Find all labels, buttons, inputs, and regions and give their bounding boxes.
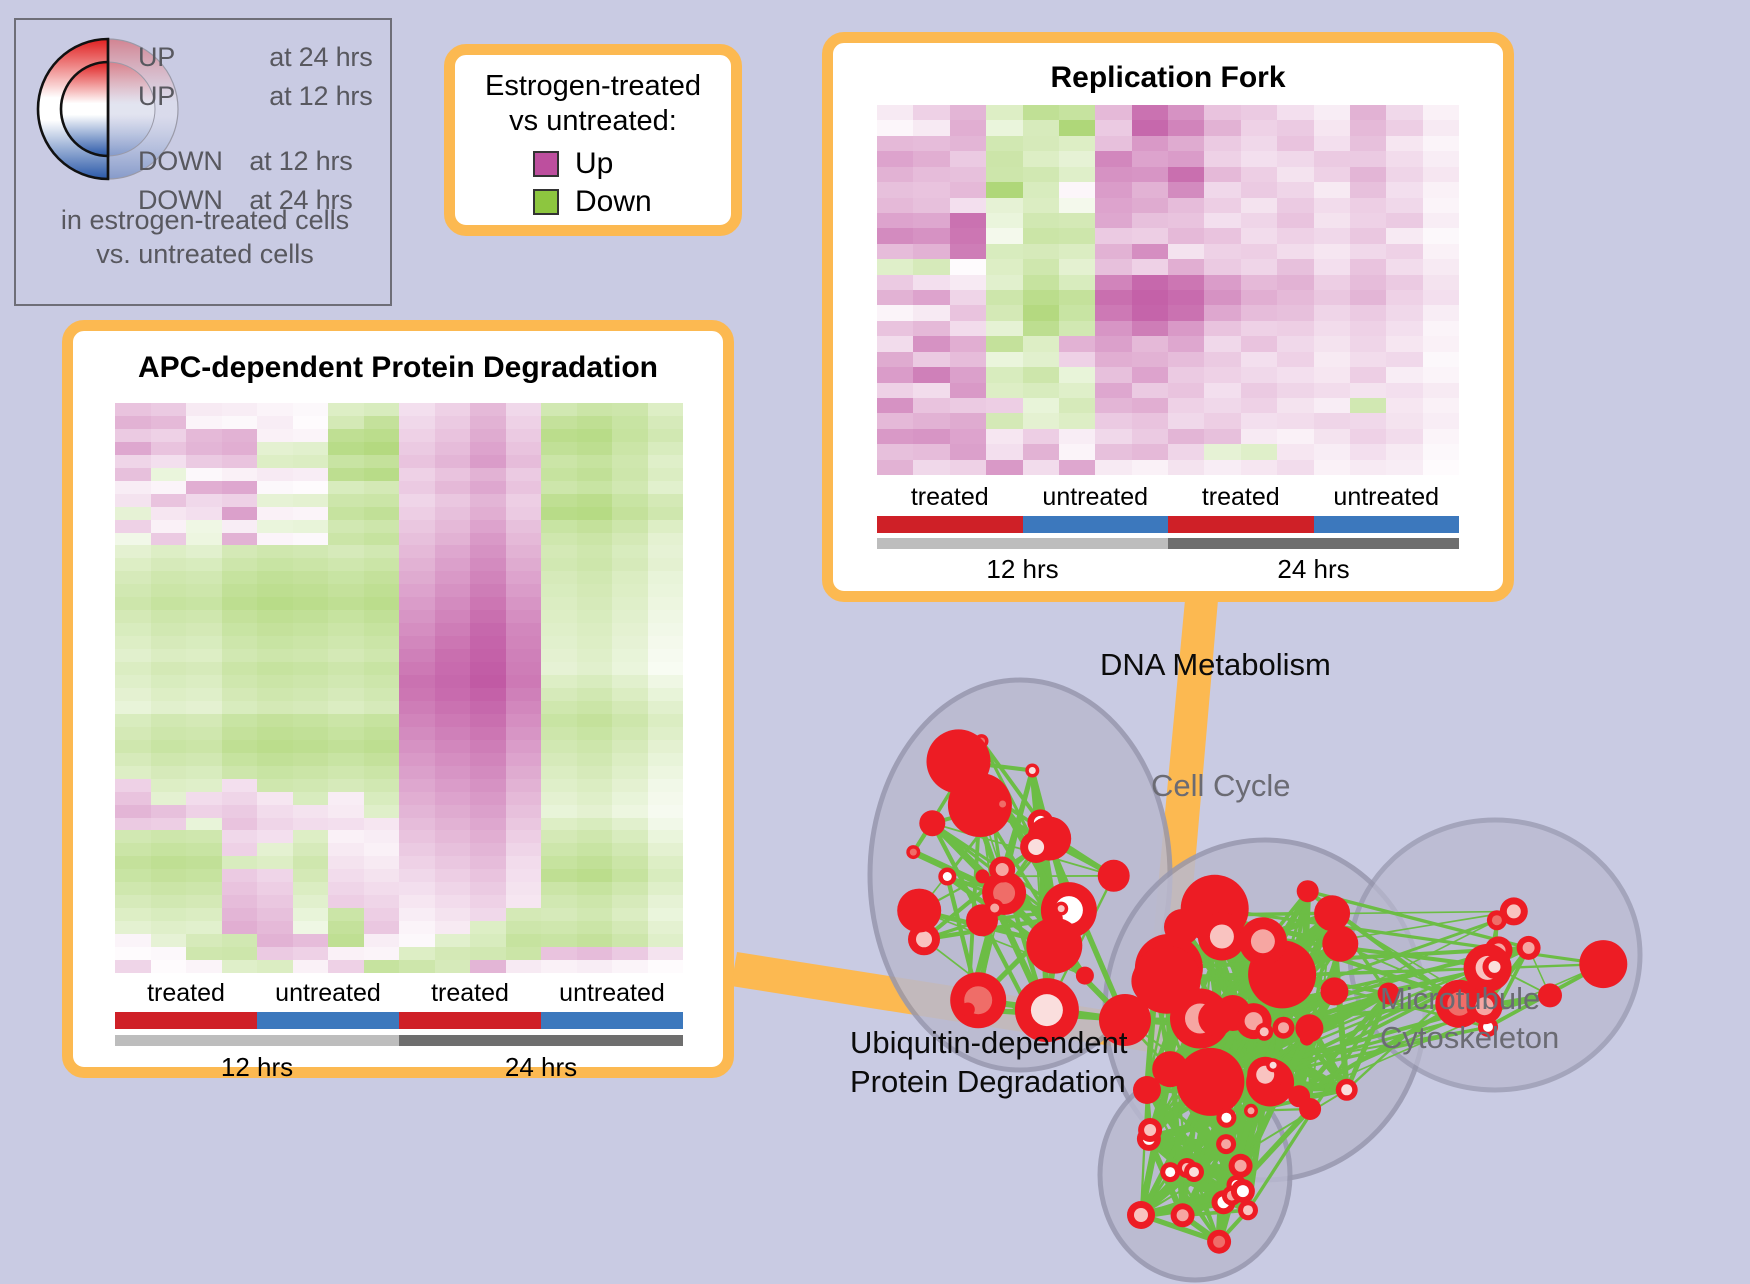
network-node-core xyxy=(910,849,917,856)
heatmap-cell xyxy=(577,753,613,766)
legend-item-down: Down xyxy=(533,187,652,217)
heatmap-cell xyxy=(1059,151,1095,166)
ubiquitin-line2: Protein Degradation xyxy=(850,1063,1128,1102)
heatmap-cell xyxy=(1132,198,1168,213)
heatmap-cell xyxy=(328,584,364,597)
heatmap-cell xyxy=(151,947,187,960)
heatmap-cell xyxy=(1023,198,1059,213)
heatmap-cell xyxy=(612,934,648,947)
heatmap-cell xyxy=(1095,305,1131,320)
heatmap-cell xyxy=(1386,182,1422,197)
heatmap-cell xyxy=(506,403,542,416)
heatmap-cell xyxy=(1277,120,1313,135)
heatmap-cell xyxy=(222,869,258,882)
network-node-core xyxy=(990,904,999,913)
heatmap-cell xyxy=(470,662,506,675)
heatmap-cell xyxy=(950,182,986,197)
heatmap-cell xyxy=(913,321,949,336)
heatmap-cell xyxy=(470,533,506,546)
heatmap-cell xyxy=(399,895,435,908)
heatmap-cell xyxy=(986,383,1022,398)
heatmap-cell xyxy=(986,305,1022,320)
heatmap-cell xyxy=(257,805,293,818)
heatmap-cell xyxy=(1168,398,1204,413)
heatmap-cell xyxy=(151,558,187,571)
heatmap-cell xyxy=(435,507,471,520)
heatmap-cell xyxy=(577,442,613,455)
heatmap-cell xyxy=(293,533,329,546)
heatmap-cell xyxy=(648,610,684,623)
heatmap-cell xyxy=(612,882,648,895)
heatmap-cell xyxy=(1168,259,1204,274)
heatmap-cell xyxy=(328,429,364,442)
heatmap-cell xyxy=(877,305,913,320)
heatmap-cell xyxy=(506,455,542,468)
heatmap-cell xyxy=(913,213,949,228)
heatmap-cell xyxy=(257,921,293,934)
heatmap-cell xyxy=(222,921,258,934)
heatmap-cell xyxy=(222,623,258,636)
heatmap-cell xyxy=(612,830,648,843)
heatmap-cell xyxy=(151,455,187,468)
heatmap-cell xyxy=(986,398,1022,413)
heatmap-cell xyxy=(257,869,293,882)
heatmap-cell xyxy=(470,688,506,701)
heatmap-cell xyxy=(328,701,364,714)
heatmap-cell xyxy=(986,336,1022,351)
heatmap-cell xyxy=(293,455,329,468)
heatmap-cell xyxy=(1204,290,1240,305)
heatmap-cell xyxy=(612,597,648,610)
heatmap-cell xyxy=(1423,383,1459,398)
heatmap-cell xyxy=(1423,228,1459,243)
heatmap-cell xyxy=(1386,198,1422,213)
treatment-bar-0 xyxy=(877,516,1023,533)
heatmap-cell xyxy=(612,843,648,856)
group-label-2: treated xyxy=(1168,483,1314,512)
heatmap-cell xyxy=(399,429,435,442)
network-node xyxy=(961,1003,975,1017)
key-label-0: UP xyxy=(138,42,175,72)
heatmap-cell xyxy=(257,623,293,636)
heatmap-cell xyxy=(151,494,187,507)
ubiquitin-line1: Ubiquitin-dependent xyxy=(850,1024,1128,1063)
heatmap-cell xyxy=(612,533,648,546)
heatmap-cell xyxy=(115,792,151,805)
heatmap-cell xyxy=(577,623,613,636)
heatmap-cell xyxy=(1204,213,1240,228)
heatmap-cell xyxy=(293,507,329,520)
heatmap-cell xyxy=(1132,290,1168,305)
heatmap-cell xyxy=(612,442,648,455)
heatmap-cell xyxy=(1350,290,1386,305)
heatmap-cell xyxy=(151,662,187,675)
heatmap-cell xyxy=(1314,444,1350,459)
heatmap-cell xyxy=(541,468,577,481)
treatment-bar-1 xyxy=(257,1012,399,1029)
group-label-3: untreated xyxy=(1314,483,1460,512)
heatmap-cell xyxy=(186,610,222,623)
heatmap-cell xyxy=(1423,151,1459,166)
heatmap-cell xyxy=(115,895,151,908)
heatmap-cell xyxy=(648,688,684,701)
network-node-core xyxy=(1243,1205,1253,1215)
heatmap-cell xyxy=(577,455,613,468)
heatmap-cell xyxy=(151,766,187,779)
heatmap-cell xyxy=(1023,151,1059,166)
heatmap-cell xyxy=(1132,120,1168,135)
heatmap-cell xyxy=(913,198,949,213)
heatmap-cell xyxy=(648,960,684,973)
heatmap-cell xyxy=(435,636,471,649)
heatmap-cell xyxy=(293,701,329,714)
heatmap-cell xyxy=(364,597,400,610)
heatmap-cell xyxy=(986,367,1022,382)
heatmap-cell xyxy=(1386,444,1422,459)
network-node-core xyxy=(1270,1062,1277,1069)
heatmap-cell xyxy=(151,623,187,636)
heatmap-cell xyxy=(986,228,1022,243)
heatmap-cell xyxy=(151,481,187,494)
heatmap-cell xyxy=(1314,383,1350,398)
heatmap-cell xyxy=(257,533,293,546)
time-bar-0 xyxy=(115,1035,399,1046)
legend-item-up: Up xyxy=(533,149,613,179)
heatmap-cell xyxy=(151,636,187,649)
pathway-network-diagram: DNA Metabolism Cell Cycle Microtubule Cy… xyxy=(795,620,1750,1279)
heatmap-cell xyxy=(293,662,329,675)
heatmap-cell xyxy=(1350,336,1386,351)
heatmap-cell xyxy=(115,714,151,727)
heatmap-cell xyxy=(1204,367,1240,382)
heatmap-cell xyxy=(648,662,684,675)
heatmap-cell xyxy=(257,520,293,533)
heatmap-cell xyxy=(648,403,684,416)
heatmap-cell xyxy=(1314,352,1350,367)
heatmap-cell xyxy=(506,947,542,960)
network-node-core xyxy=(1235,1160,1247,1172)
heatmap-cell xyxy=(435,934,471,947)
heatmap-cell xyxy=(399,714,435,727)
heatmap-cell xyxy=(950,413,986,428)
heatmap-cell xyxy=(1241,228,1277,243)
heatmap-cell xyxy=(328,623,364,636)
heatmap-cell xyxy=(1095,136,1131,151)
apc-treatment-bars xyxy=(115,1012,683,1029)
heatmap-cell xyxy=(151,714,187,727)
heatmap-cell xyxy=(293,571,329,584)
heatmap-cell xyxy=(222,934,258,947)
heatmap-cell xyxy=(1241,460,1277,475)
network-node xyxy=(1076,967,1094,985)
heatmap-cell xyxy=(506,856,542,869)
heatmap-cell xyxy=(1350,244,1386,259)
heatmap-cell xyxy=(1350,167,1386,182)
heatmap-cell xyxy=(435,869,471,882)
heatmap-cell xyxy=(950,136,986,151)
heatmap-cell xyxy=(612,766,648,779)
heatmap-cell xyxy=(470,843,506,856)
heatmap-cell xyxy=(293,636,329,649)
heatmap-cell xyxy=(222,675,258,688)
heatmap-cell xyxy=(222,494,258,507)
heatmap-cell xyxy=(577,740,613,753)
heatmap-cell xyxy=(648,442,684,455)
heatmap-cell xyxy=(541,610,577,623)
network-node-core xyxy=(1492,915,1502,925)
heatmap-cell xyxy=(364,701,400,714)
heatmap-cell xyxy=(1314,413,1350,428)
group-label-0: treated xyxy=(877,483,1023,512)
heatmap-cell xyxy=(541,869,577,882)
heatmap-cell xyxy=(877,120,913,135)
heatmap-cell xyxy=(470,895,506,908)
heatmap-cell xyxy=(1095,352,1131,367)
heatmap-cell xyxy=(877,321,913,336)
heatmap-cell xyxy=(577,494,613,507)
heatmap-cell xyxy=(506,766,542,779)
heatmap-cell xyxy=(950,336,986,351)
heatmap-cell xyxy=(257,960,293,973)
heatmap-cell xyxy=(913,244,949,259)
heatmap-cell xyxy=(470,779,506,792)
heatmap-cell xyxy=(506,688,542,701)
heatmap-cell xyxy=(364,403,400,416)
heatmap-cell xyxy=(877,198,913,213)
heatmap-cell xyxy=(293,481,329,494)
heatmap-cell xyxy=(186,494,222,507)
heatmap-cell xyxy=(435,597,471,610)
heatmap-cell xyxy=(435,766,471,779)
heatmap-cell xyxy=(151,416,187,429)
heatmap-cell xyxy=(364,416,400,429)
heatmap-cell xyxy=(1241,352,1277,367)
heatmap-cell xyxy=(222,507,258,520)
heatmap-cell xyxy=(1350,275,1386,290)
heatmap-cell xyxy=(648,545,684,558)
heatmap-cell xyxy=(399,753,435,766)
apc-heatmap xyxy=(115,403,683,973)
heatmap-cell xyxy=(293,558,329,571)
heatmap-cell xyxy=(435,895,471,908)
heatmap-cell xyxy=(328,895,364,908)
heatmap-cell xyxy=(435,455,471,468)
heatmap-cell xyxy=(399,830,435,843)
heatmap-cell xyxy=(1023,336,1059,351)
heatmap-cell xyxy=(435,584,471,597)
heatmap-cell xyxy=(648,481,684,494)
heatmap-cell xyxy=(257,701,293,714)
heatmap-cell xyxy=(1204,413,1240,428)
network-node xyxy=(897,889,941,933)
heatmap-cell xyxy=(257,675,293,688)
heatmap-cell xyxy=(151,921,187,934)
heatmap-cell xyxy=(1132,321,1168,336)
heatmap-cell xyxy=(328,869,364,882)
heatmap-cell xyxy=(328,507,364,520)
heatmap-cell xyxy=(399,947,435,960)
heatmap-cell xyxy=(1423,321,1459,336)
heatmap-cell xyxy=(293,714,329,727)
heatmap-cell xyxy=(1023,167,1059,182)
heatmap-cell xyxy=(1059,429,1095,444)
heatmap-cell xyxy=(364,571,400,584)
heatmap-cell xyxy=(877,429,913,444)
heatmap-cell xyxy=(1386,136,1422,151)
heatmap-cell xyxy=(612,558,648,571)
heatmap-cell xyxy=(986,460,1022,475)
heatmap-cell xyxy=(1095,290,1131,305)
heatmap-cell xyxy=(648,766,684,779)
heatmap-cell xyxy=(257,908,293,921)
heatmap-cell xyxy=(1241,336,1277,351)
key-label-2: DOWN xyxy=(138,146,223,176)
heatmap-cell xyxy=(364,882,400,895)
heatmap-cell xyxy=(364,779,400,792)
heatmap-cell xyxy=(506,818,542,831)
heatmap-cell xyxy=(506,792,542,805)
heatmap-cell xyxy=(257,636,293,649)
heatmap-cell xyxy=(115,571,151,584)
heatmap-cell xyxy=(222,584,258,597)
heatmap-cell xyxy=(1350,321,1386,336)
heatmap-cell xyxy=(1241,259,1277,274)
heatmap-cell xyxy=(1423,198,1459,213)
time-label-0: 12 hrs xyxy=(115,1052,399,1083)
heatmap-cell xyxy=(1350,213,1386,228)
heatmap-cell xyxy=(950,228,986,243)
heatmap-cell xyxy=(186,882,222,895)
heatmap-cell xyxy=(399,584,435,597)
heatmap-cell xyxy=(1023,136,1059,151)
microtubule-line1: Microtubule xyxy=(1380,980,1559,1019)
heatmap-cell xyxy=(1095,275,1131,290)
heatmap-cell xyxy=(648,830,684,843)
heatmap-cell xyxy=(364,636,400,649)
heatmap-cell xyxy=(115,818,151,831)
heatmap-cell xyxy=(1204,444,1240,459)
apc-title: APC-dependent Protein Degradation xyxy=(73,351,723,385)
figure-root: UP at 24 hrs UP at 12 hrs DOWN at 12 hrs… xyxy=(0,0,1750,1279)
heatmap-cell xyxy=(115,597,151,610)
heatmap-cell xyxy=(293,442,329,455)
heatmap-cell xyxy=(877,105,913,120)
heatmap-cell xyxy=(1277,105,1313,120)
heatmap-cell xyxy=(151,779,187,792)
heatmap-cell xyxy=(435,429,471,442)
heatmap-cell xyxy=(950,367,986,382)
heatmap-cell xyxy=(913,444,949,459)
heatmap-cell xyxy=(151,869,187,882)
heatmap-cell xyxy=(328,830,364,843)
heatmap-cell xyxy=(506,675,542,688)
heatmap-cell xyxy=(222,740,258,753)
heatmap-cell xyxy=(913,182,949,197)
heatmap-cell xyxy=(399,740,435,753)
heatmap-cell xyxy=(877,413,913,428)
heatmap-cell xyxy=(293,649,329,662)
heatmap-cell xyxy=(1423,167,1459,182)
heatmap-cell xyxy=(399,455,435,468)
heatmap-cell xyxy=(1350,259,1386,274)
heatmap-cell xyxy=(222,766,258,779)
heatmap-cell xyxy=(612,416,648,429)
heatmap-cell xyxy=(541,675,577,688)
heatmap-cell xyxy=(913,398,949,413)
heatmap-cell xyxy=(1314,244,1350,259)
heatmap-cell xyxy=(1204,120,1240,135)
heatmap-cell xyxy=(1132,305,1168,320)
heatmap-cell xyxy=(1023,290,1059,305)
heatmap-cell xyxy=(1023,105,1059,120)
heatmap-cell xyxy=(222,649,258,662)
heatmap-cell xyxy=(222,882,258,895)
network-node-core xyxy=(1489,961,1501,973)
heatmap-cell xyxy=(506,960,542,973)
heatmap-cell xyxy=(399,688,435,701)
heatmap-cell xyxy=(222,481,258,494)
heatmap-cell xyxy=(1386,151,1422,166)
heatmap-cell xyxy=(541,921,577,934)
heatmap-cell xyxy=(1132,228,1168,243)
heatmap-cell xyxy=(115,947,151,960)
heatmap-cell xyxy=(328,545,364,558)
heatmap-cell xyxy=(1314,398,1350,413)
heatmap-cell xyxy=(1314,213,1350,228)
heatmap-cell xyxy=(1095,321,1131,336)
heatmap-cell xyxy=(257,934,293,947)
heatmap-cell xyxy=(541,558,577,571)
heatmap-cell xyxy=(506,934,542,947)
cluster-label-ubiquitin: Ubiquitin-dependent Protein Degradation xyxy=(850,1024,1128,1102)
heatmap-cell xyxy=(1423,398,1459,413)
heatmap-cell xyxy=(541,740,577,753)
key-caption-line1: in estrogen-treated cells xyxy=(16,204,394,238)
heatmap-cell xyxy=(648,856,684,869)
heatmap-cell xyxy=(328,947,364,960)
heatmap-cell xyxy=(399,494,435,507)
heatmap-cell xyxy=(648,805,684,818)
heatmap-cell xyxy=(186,507,222,520)
heatmap-cell xyxy=(470,727,506,740)
heatmap-cell xyxy=(1168,120,1204,135)
heatmap-cell xyxy=(435,714,471,727)
network-node-core xyxy=(1028,839,1044,855)
heatmap-cell xyxy=(293,818,329,831)
heatmap-cell xyxy=(1095,460,1131,475)
network-node xyxy=(1288,1085,1310,1107)
heatmap-cell xyxy=(399,727,435,740)
heatmap-cell xyxy=(293,520,329,533)
heatmap-cell xyxy=(506,740,542,753)
heatmap-cell xyxy=(913,259,949,274)
heatmap-cell xyxy=(1241,105,1277,120)
heatmap-cell xyxy=(186,869,222,882)
heatmap-cell xyxy=(1095,383,1131,398)
heatmap-cell xyxy=(877,228,913,243)
heatmap-cell xyxy=(151,830,187,843)
heatmap-cell xyxy=(1386,228,1422,243)
heatmap-cell xyxy=(222,403,258,416)
heatmap-cell xyxy=(1241,290,1277,305)
heatmap-cell xyxy=(1423,429,1459,444)
heatmap-cell xyxy=(577,882,613,895)
heatmap-cell xyxy=(1314,151,1350,166)
heatmap-cell xyxy=(577,805,613,818)
heatmap-cell xyxy=(506,908,542,921)
heatmap-cell xyxy=(328,533,364,546)
heatmap-cell xyxy=(151,818,187,831)
